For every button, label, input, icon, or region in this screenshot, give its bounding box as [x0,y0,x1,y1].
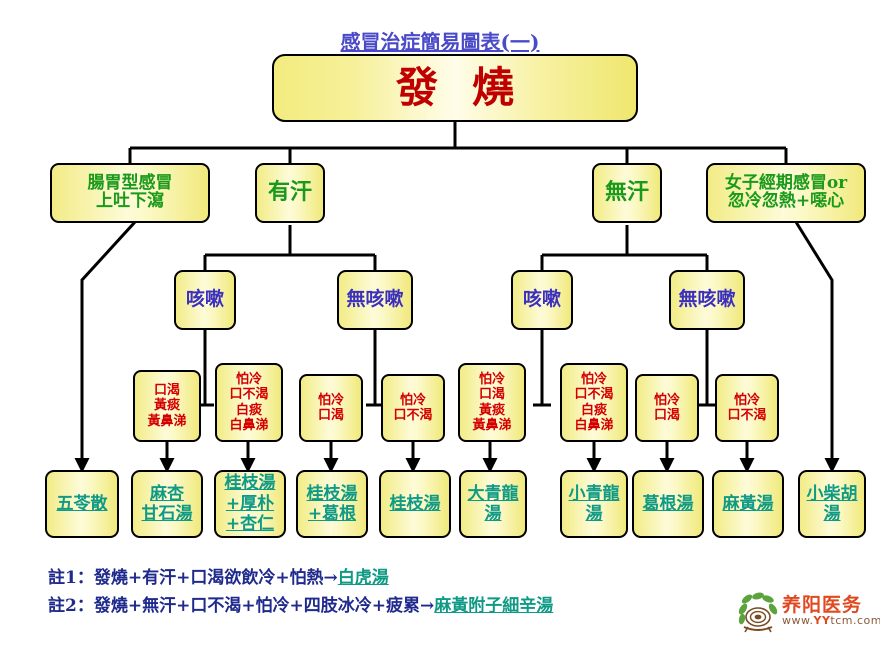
rx-gegentang-line1: 葛根湯 [643,494,694,514]
node-cough-nosweat-label: 咳嗽 [523,290,561,310]
node-gi-cold-line2: 上吐下瀉 [96,193,164,211]
node-rx-guizhitang[interactable]: 桂枝湯 [379,470,451,538]
node-nocough-nosweat-label: 無咳嗽 [678,290,735,310]
node-rx-xiaoqinglong[interactable]: 小青龍 湯 [560,470,628,538]
node-cough-sweat[interactable]: 咳嗽 [174,270,236,330]
node-cough-nosweat[interactable]: 咳嗽 [511,270,573,330]
sym-6-line2: 口不渴 [574,387,613,402]
sym-1-line3: 黃鼻涕 [147,414,186,429]
node-rx-gegentang[interactable]: 葛根湯 [632,470,704,538]
sym-8-line1: 怕冷 [734,393,760,408]
sym-8-line2: 口不渴 [727,408,766,423]
rx-maxing-line2: 甘石湯 [142,504,193,524]
node-rx-wulingsan[interactable]: 五苓散 [45,470,119,538]
sym-2-line1: 怕冷 [236,372,262,387]
node-menstrual-cold-line2: 忽冷忽熱+噁心 [728,193,844,211]
footnote-1-prescription[interactable]: 白虎湯 [338,568,389,588]
node-sym-7[interactable]: 怕冷 口渴 [635,374,699,442]
rx-xiaoqinglong-line2: 湯 [586,504,603,524]
sym-5-line3: 黃痰 [479,403,505,418]
rx-daqinglong-line2: 湯 [485,504,502,524]
node-menstrual-cold[interactable]: 女子經期感冒or 忽冷忽熱+噁心 [706,163,866,223]
sym-4-line2: 口不渴 [393,408,432,423]
flowchart-canvas: 感冒治症簡易圖表(一) 發燒 腸胃型感冒 上吐下瀉 有汗 無汗 女子經期感冒or… [0,0,880,647]
sym-2-line4: 白鼻涕 [229,418,268,433]
node-sym-3[interactable]: 怕冷 口渴 [299,374,363,442]
node-sweating[interactable]: 有汗 [255,163,325,223]
node-nocough-nosweat[interactable]: 無咳嗽 [669,270,745,330]
node-fever-label: 發燒 [362,66,548,110]
sym-6-line3: 白痰 [581,403,607,418]
node-nocough-sweat-label: 無咳嗽 [346,290,403,310]
node-fever[interactable]: 發燒 [272,54,638,122]
sym-6-line4: 白鼻涕 [574,418,613,433]
node-sym-6[interactable]: 怕冷 口不渴 白痰 白鼻涕 [560,363,628,442]
node-rx-maxing[interactable]: 麻杏 甘石湯 [131,470,203,538]
node-rx-guizhi-gegen[interactable]: 桂枝湯 +葛根 [296,470,368,538]
sym-6-line1: 怕冷 [581,372,607,387]
logo-url-post: tcm.com [830,614,880,627]
page-title: 感冒治症簡易圖表(一) [0,26,880,55]
node-sym-8[interactable]: 怕冷 口不渴 [715,374,779,442]
rx-guizhi-houpo-line2: +厚朴 [226,494,274,514]
rx-guizhi-gegen-line1: 桂枝湯 [307,484,358,504]
footnote-1: 註1：發燒+有汗+口渴欲飲冷+怕熱→白虎湯 [48,563,389,588]
logo-url-highlight: YY [813,614,830,627]
herb-bowl-icon [736,590,782,636]
rx-mahuangtang-line1: 麻黃湯 [723,494,774,514]
node-sym-1[interactable]: 口渴 黃痰 黃鼻涕 [133,370,201,442]
sym-7-line1: 怕冷 [654,393,680,408]
sym-3-line2: 口渴 [318,408,344,423]
sym-2-line3: 白痰 [236,403,262,418]
rx-wulingsan-line1: 五苓散 [57,494,108,514]
sym-5-line1: 怕冷 [479,372,505,387]
sym-1-line1: 口渴 [154,383,180,398]
footnote-2: 註2：發燒+無汗+口不渴+怕冷+四肢冰冷+疲累→麻黃附子細辛湯 [48,591,553,616]
sym-5-line2: 口渴 [479,387,505,402]
sym-1-line2: 黃痰 [154,398,180,413]
logo-url: www.YYtcm.com [782,614,880,627]
rx-daqinglong-line1: 大青龍 [468,484,519,504]
node-sweating-label: 有汗 [268,181,312,204]
rx-guizhi-gegen-line2: +葛根 [308,504,356,524]
logo-url-pre: www. [782,614,813,627]
node-rx-daqinglong[interactable]: 大青龍 湯 [459,470,527,538]
footnote-1-text: 註1：發燒+有汗+口渴欲飲冷+怕熱→ [48,568,338,588]
sym-7-line2: 口渴 [654,408,680,423]
sym-2-line2: 口不渴 [229,387,268,402]
rx-xiaoqinglong-line1: 小青龍 [569,484,620,504]
rx-maxing-line1: 麻杏 [150,484,184,504]
node-sym-5[interactable]: 怕冷 口渴 黃痰 黃鼻涕 [458,363,526,442]
node-gi-cold[interactable]: 腸胃型感冒 上吐下瀉 [50,163,210,223]
rx-guizhi-houpo-line1: 桂枝湯 [225,473,276,493]
rx-guizhitang-line1: 桂枝湯 [390,494,441,514]
site-logo[interactable]: 养阳医务 www.YYtcm.com [736,590,872,640]
rx-xiaochaihu-line2: 湯 [824,504,841,524]
sym-5-line4: 黃鼻涕 [472,418,511,433]
node-nocough-sweat[interactable]: 無咳嗽 [337,270,413,330]
node-rx-guizhi-houpo[interactable]: 桂枝湯 +厚朴 +杏仁 [214,470,286,538]
sym-3-line1: 怕冷 [318,393,344,408]
node-sym-4[interactable]: 怕冷 口不渴 [381,374,445,442]
node-no-sweat-label: 無汗 [605,181,649,204]
footnote-2-text: 註2：發燒+無汗+口不渴+怕冷+四肢冰冷+疲累→ [48,596,434,616]
node-sym-2[interactable]: 怕冷 口不渴 白痰 白鼻涕 [215,363,283,442]
footnote-2-prescription[interactable]: 麻黃附子細辛湯 [434,596,553,616]
rx-xiaochaihu-line1: 小柴胡 [807,484,858,504]
node-rx-xiaochaihu[interactable]: 小柴胡 湯 [798,470,866,538]
node-no-sweat[interactable]: 無汗 [592,163,662,223]
node-rx-mahuangtang[interactable]: 麻黃湯 [712,470,784,538]
node-cough-sweat-label: 咳嗽 [186,290,224,310]
sym-4-line1: 怕冷 [400,393,426,408]
rx-guizhi-houpo-line3: +杏仁 [226,514,274,534]
logo-name: 养阳医务 [782,590,862,617]
